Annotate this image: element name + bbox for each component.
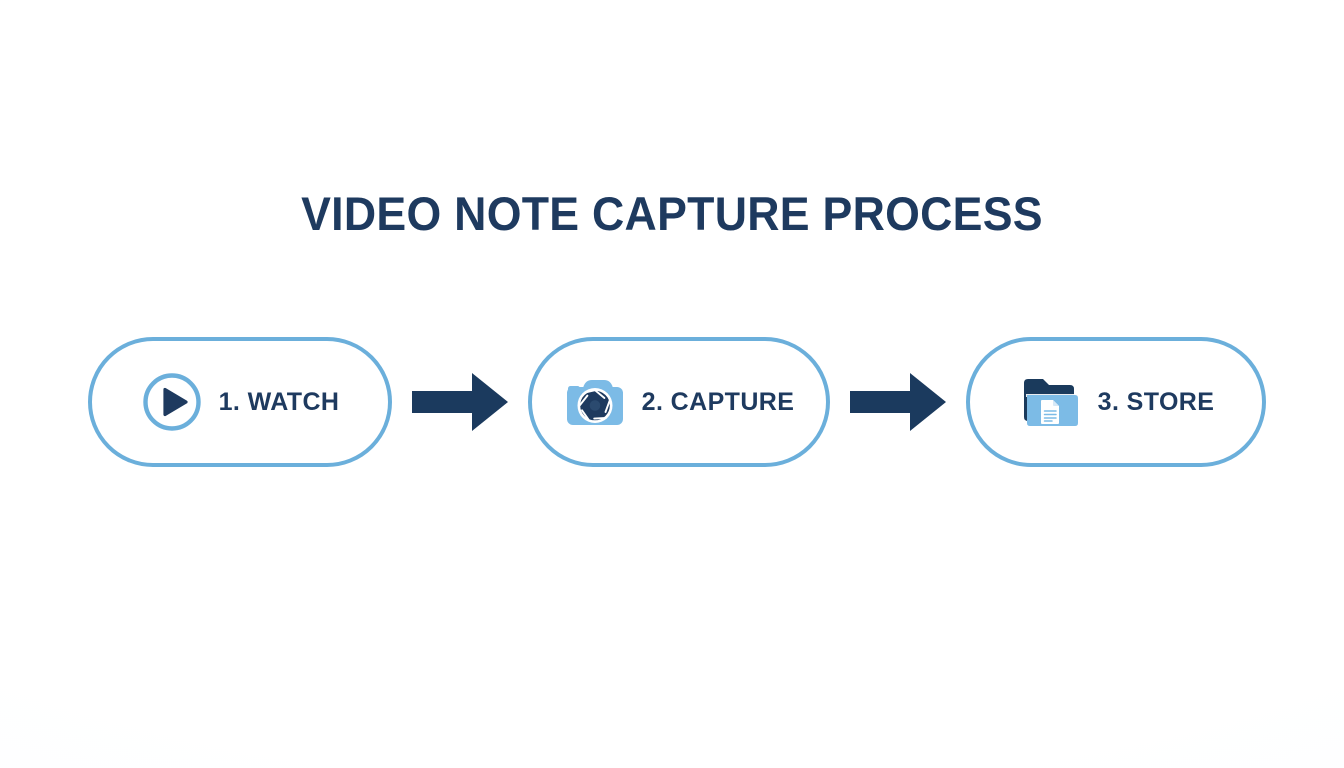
camera-aperture-icon: [564, 374, 626, 430]
step-watch[interactable]: 1. WATCH: [88, 337, 392, 467]
diagram-stage: VIDEO NOTE CAPTURE PROCESS 1. WATCH: [0, 0, 1344, 768]
arrow-right-icon-1: [410, 371, 510, 433]
process-flow: 1. WATCH: [88, 336, 1266, 468]
arrow-right-icon-2: [848, 371, 948, 433]
folder-document-icon: [1018, 373, 1082, 431]
step-capture-label: 2. CAPTURE: [642, 388, 795, 417]
page-title: VIDEO NOTE CAPTURE PROCESS: [34, 186, 1311, 242]
step-store-label: 3. STORE: [1098, 388, 1215, 417]
play-circle-icon: [141, 371, 203, 433]
step-watch-label: 1. WATCH: [219, 388, 340, 417]
step-capture[interactable]: 2. CAPTURE: [528, 337, 830, 467]
step-store[interactable]: 3. STORE: [966, 337, 1266, 467]
